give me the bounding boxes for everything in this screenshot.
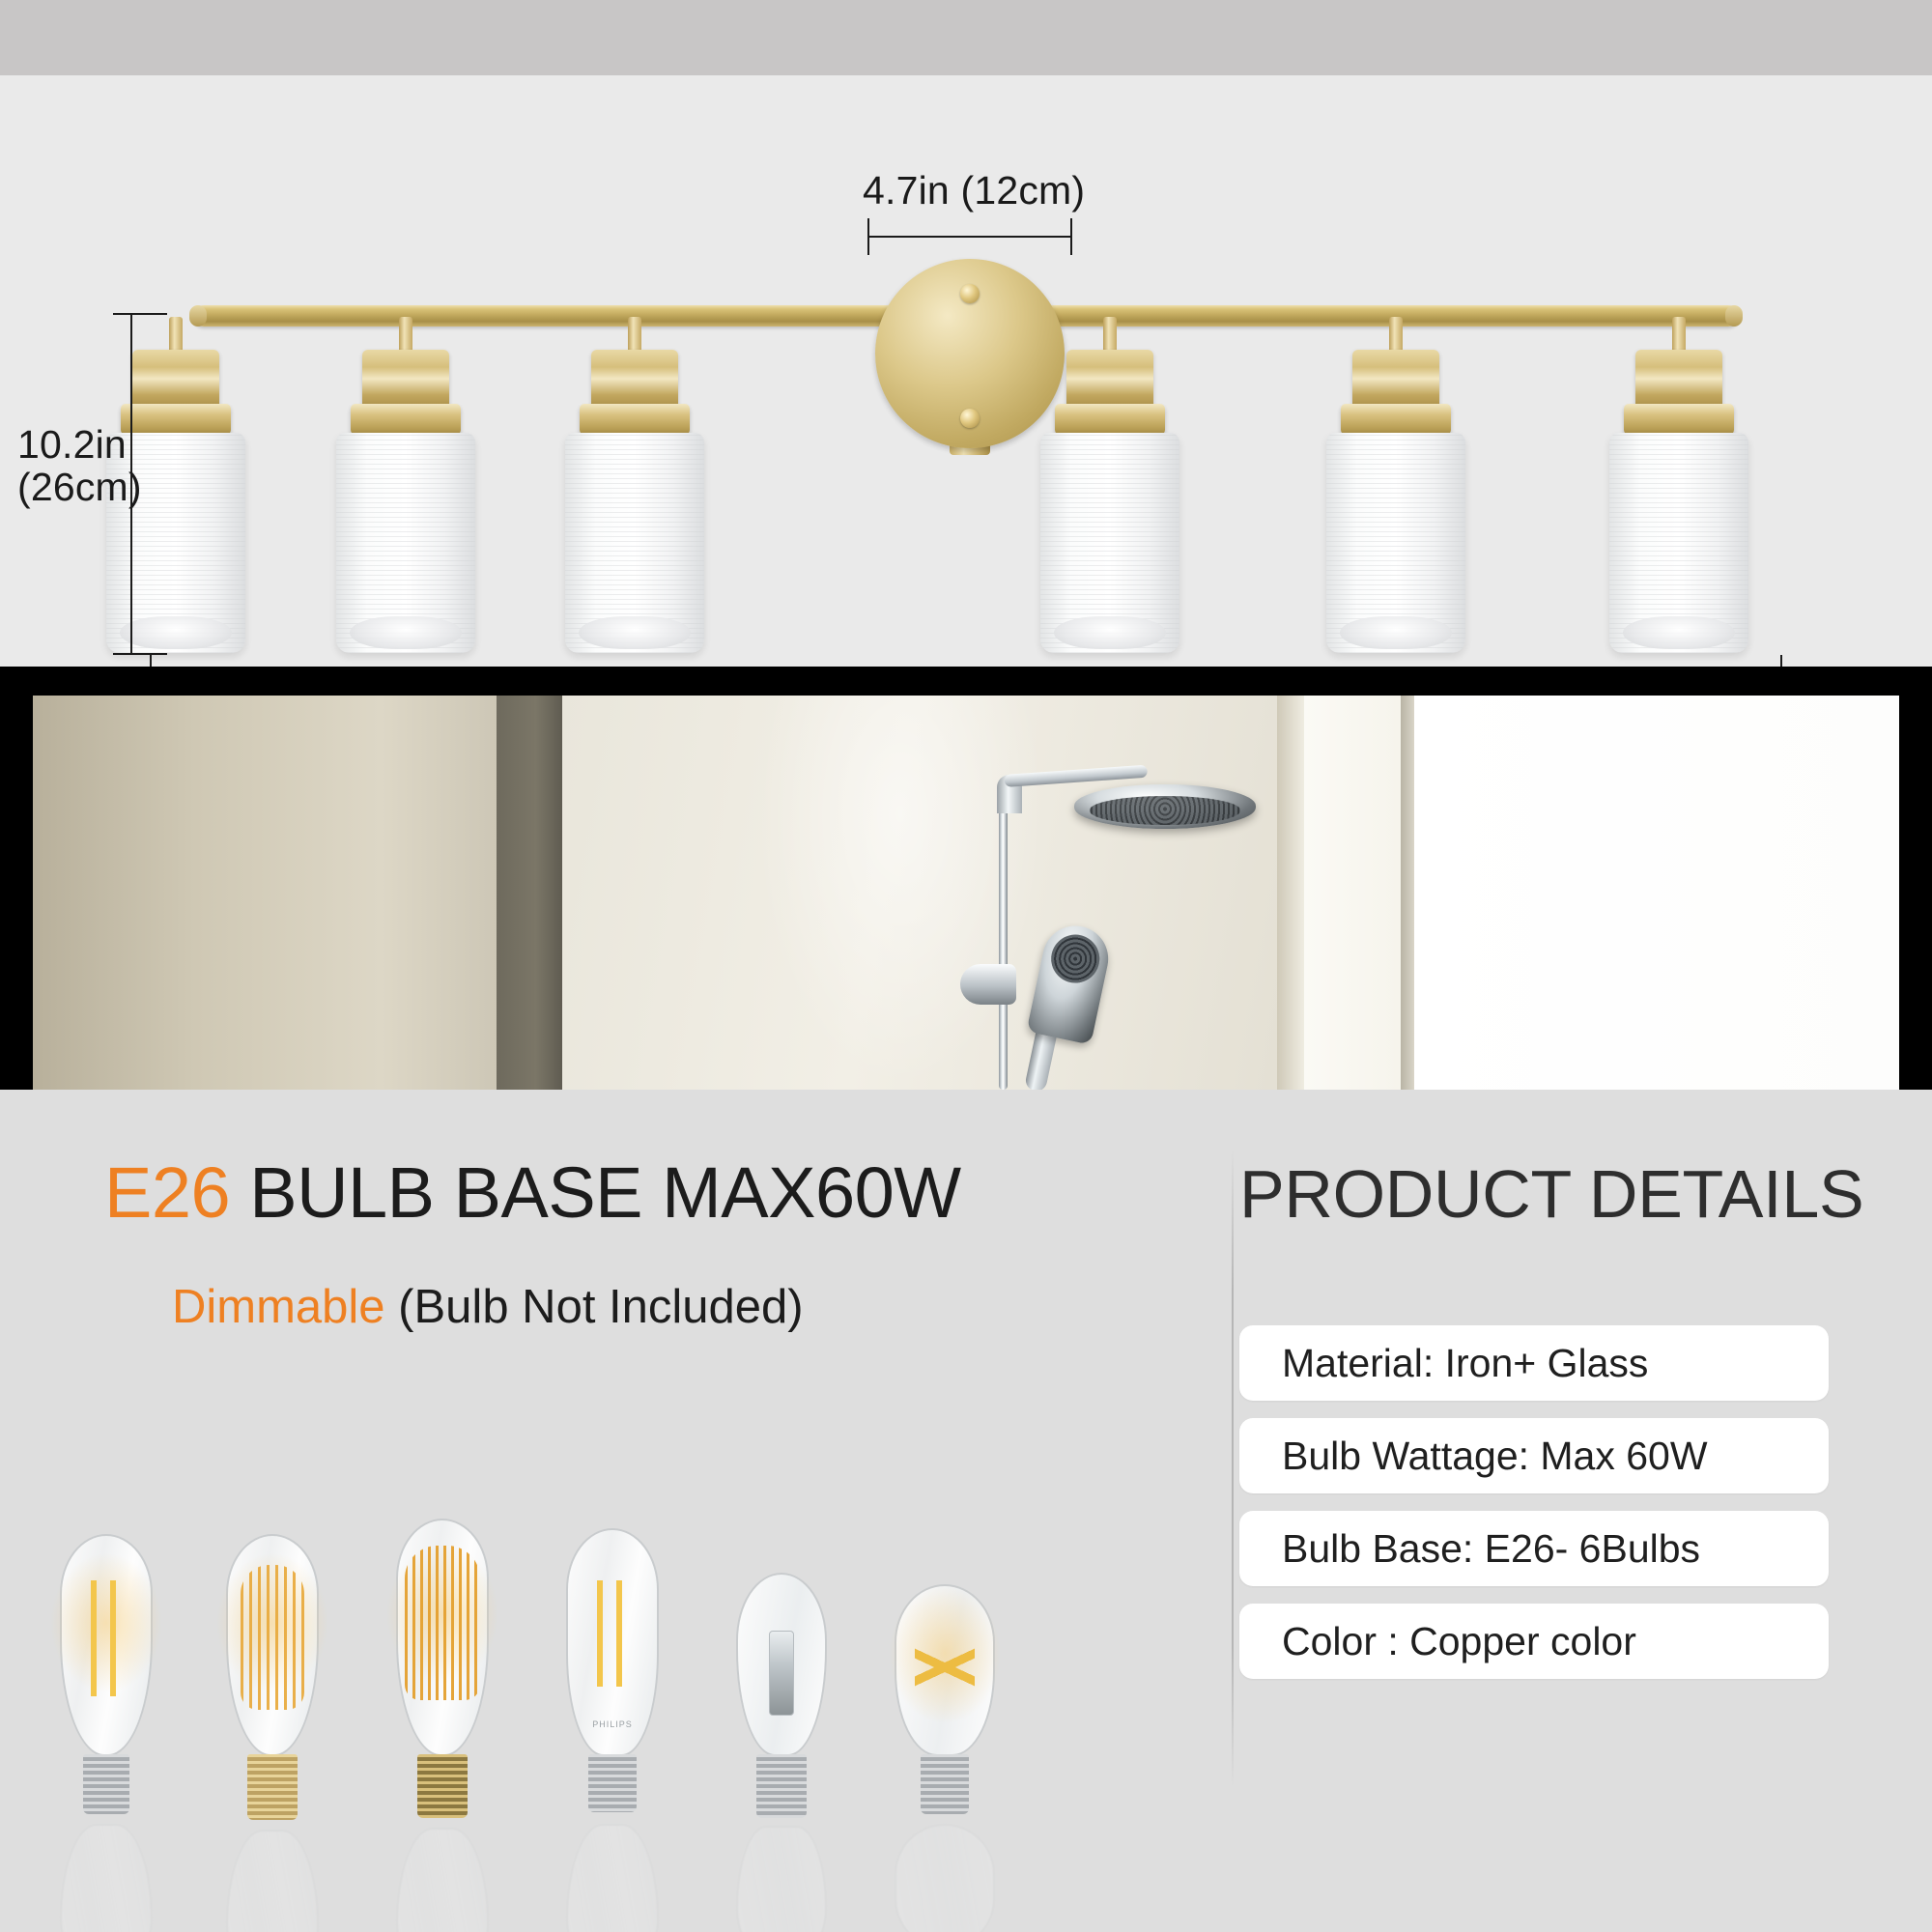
lamp-socket	[362, 350, 449, 408]
shower-riser-pipe	[999, 790, 1008, 1090]
bulb-filament	[915, 1621, 975, 1714]
bulb-screw-base	[83, 1754, 129, 1814]
bulb-base-headline-rest: BULB BASE MAX60W	[230, 1152, 960, 1233]
photo-wall-left	[33, 696, 497, 1090]
product-infographic: 4.7in (12cm) 10.2in (26cm) 38.6in (98cm)	[0, 0, 1932, 1932]
lamp-head-3	[538, 75, 731, 667]
top-dimension-tick-left	[867, 218, 869, 255]
lamp-head-1	[79, 75, 272, 667]
dimmable-subline-accent: Dimmable	[172, 1281, 385, 1333]
left-dimension-label: 10.2in (26cm)	[17, 423, 142, 509]
bulb-reflection	[396, 1828, 489, 1932]
left-dimension-label-inches: 10.2in	[17, 423, 142, 466]
bulb-st64-vintage-cage	[226, 1534, 319, 1756]
photo-door-jamb-1	[1277, 696, 1304, 1090]
top-dimension-tick-right	[1070, 218, 1072, 255]
lamp-glass-shade	[565, 433, 704, 653]
bulb-reflection	[895, 1824, 995, 1932]
dimmable-subline-rest: (Bulb Not Included)	[385, 1281, 804, 1333]
photo-bright-panel	[1414, 696, 1899, 1090]
lamp-collar	[1341, 404, 1451, 435]
top-band	[0, 0, 1932, 75]
compatible-bulbs-row: PHILIPS	[19, 1428, 985, 1911]
product-details-list: Material: Iron+ Glass Bulb Wattage: Max …	[1239, 1325, 1829, 1696]
detail-row-material: Material: Iron+ Glass	[1239, 1325, 1829, 1401]
bulb-glass	[396, 1519, 489, 1756]
bulb-screw-base	[756, 1754, 807, 1818]
lamp-socket	[132, 350, 219, 408]
plate-screw-top-icon	[960, 284, 980, 303]
photo-door-jamb-2	[1304, 696, 1401, 1090]
bulb-glass	[60, 1534, 153, 1756]
bulb-screw-base	[247, 1754, 298, 1820]
bulb-brand-label: PHILIPS	[592, 1719, 633, 1729]
lamp-socket	[591, 350, 678, 408]
lamp-socket	[1066, 350, 1153, 408]
photo-wall-main	[562, 696, 1277, 1090]
left-dimension-label-cm: (26cm)	[17, 466, 142, 508]
lamp-collar	[1624, 404, 1734, 435]
bulb-filament	[241, 1565, 304, 1710]
bulb-base-headline-accent: E26	[104, 1152, 230, 1233]
bulb-reflection	[736, 1826, 827, 1932]
lamp-glass-shade	[1609, 433, 1748, 653]
bulb-screw-base	[921, 1754, 969, 1814]
rain-shower-head-icon	[1074, 784, 1256, 829]
bulb-a19-led-filament	[895, 1584, 995, 1756]
lamp-socket	[1352, 350, 1439, 408]
bulb-halogen-capsule-icon	[769, 1631, 794, 1716]
bulb-filament	[81, 1580, 131, 1696]
detail-row-bulb-wattage: Bulb Wattage: Max 60W	[1239, 1418, 1829, 1493]
dimension-diagram-section: 4.7in (12cm) 10.2in (26cm) 38.6in (98cm)	[0, 75, 1932, 667]
bulb-glass: PHILIPS	[566, 1528, 659, 1756]
bathroom-photo-section	[0, 667, 1932, 1090]
lamp-socket	[1635, 350, 1722, 408]
bulb-reflection	[566, 1824, 659, 1932]
bulb-reflection	[60, 1824, 153, 1932]
top-dimension-line	[867, 236, 1072, 238]
lamp-head-5	[1299, 75, 1492, 667]
lamp-head-2	[309, 75, 502, 667]
detail-row-color: Color : Copper color	[1239, 1604, 1829, 1679]
bulb-screw-base	[588, 1754, 637, 1812]
bulb-filament	[587, 1580, 638, 1687]
left-dimension-tick-top	[113, 313, 167, 315]
detail-row-bulb-base: Bulb Base: E26- 6Bulbs	[1239, 1511, 1829, 1586]
lamp-glass-shade	[336, 433, 475, 653]
bulb-base-headline: E26 BULB BASE MAX60W	[104, 1151, 961, 1234]
photo-door-jamb-3	[1401, 696, 1414, 1090]
lamp-collar	[580, 404, 690, 435]
bulb-st64-squirrel-cage	[396, 1519, 489, 1756]
lamp-glass-shade	[1326, 433, 1465, 653]
product-details-title: PRODUCT DETAILS	[1239, 1155, 1863, 1233]
vanity-light-fixture	[0, 75, 1932, 667]
photo-wall-corner	[497, 696, 562, 1090]
bulb-filament	[405, 1546, 480, 1700]
bulb-st19-led-philips: PHILIPS	[566, 1528, 659, 1756]
lamp-collar	[1055, 404, 1165, 435]
bulb-reflection	[226, 1830, 319, 1932]
bathroom-photo	[33, 696, 1899, 1090]
lamp-glass-shade	[1040, 433, 1179, 653]
lamp-collar	[351, 404, 461, 435]
section-divider	[1232, 1150, 1234, 1787]
lamp-head-4	[1013, 75, 1207, 667]
hand-shower-mount	[960, 964, 1016, 1005]
bulb-glass	[736, 1573, 827, 1756]
top-dimension-label: 4.7in (12cm)	[863, 168, 1085, 213]
bulb-glass	[226, 1534, 319, 1756]
lamp-head-6	[1582, 75, 1776, 667]
bulb-screw-base	[417, 1754, 468, 1818]
dimmable-subline: Dimmable (Bulb Not Included)	[172, 1280, 804, 1334]
bulb-halogen-capsule	[736, 1573, 827, 1756]
left-dimension-tick-bottom	[113, 653, 167, 655]
plate-screw-bottom-icon	[960, 409, 980, 428]
bulb-st64-led-filament	[60, 1534, 153, 1756]
bulb-glass	[895, 1584, 995, 1756]
